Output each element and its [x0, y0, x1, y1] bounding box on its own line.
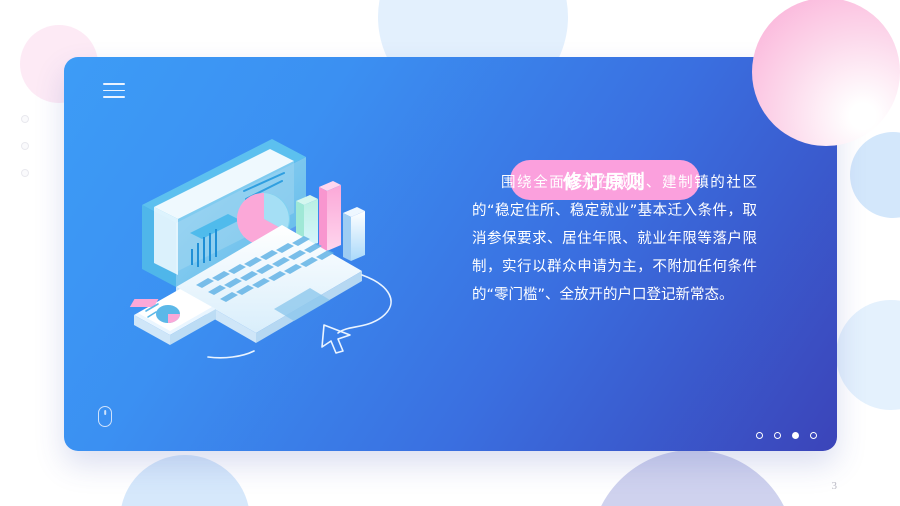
illustration-svg [124, 137, 444, 367]
pagination-dot-3-active[interactable] [792, 432, 799, 439]
decor-circle-pink-overlay [752, 0, 900, 146]
mouse-scroll-icon[interactable] [98, 406, 112, 427]
pagination-dot-4[interactable] [810, 432, 817, 439]
page-number: 3 [832, 480, 838, 492]
pagination-dot-2[interactable] [774, 432, 781, 439]
decor-dot-2 [21, 142, 29, 150]
hamburger-line-1 [103, 83, 125, 85]
hamburger-menu-icon[interactable] [103, 83, 125, 98]
pagination-dots[interactable] [756, 432, 817, 439]
decor-dot-3 [21, 169, 29, 177]
slide-body-text: 围绕全面放开在城区、建制镇的社区的“稳定住所、稳定就业”基本迁入条件，取消参保要… [472, 169, 757, 309]
isometric-laptop-analytics-illustration [124, 137, 444, 367]
pagination-dot-1[interactable] [756, 432, 763, 439]
decor-dot-1 [21, 115, 29, 123]
slide-card: 修订原则 围绕全面放开在城区、建制镇的社区的“稳定住所、稳定就业”基本迁入条件，… [64, 57, 837, 451]
hamburger-line-2 [103, 90, 125, 92]
decor-circle-blue-right [850, 132, 900, 218]
decor-circle-lavender-bottom-center [590, 450, 795, 506]
hamburger-line-3 [103, 96, 125, 98]
decor-circle-blue-bottom-left [120, 455, 250, 506]
decor-circle-blue-right-lower [836, 300, 900, 410]
